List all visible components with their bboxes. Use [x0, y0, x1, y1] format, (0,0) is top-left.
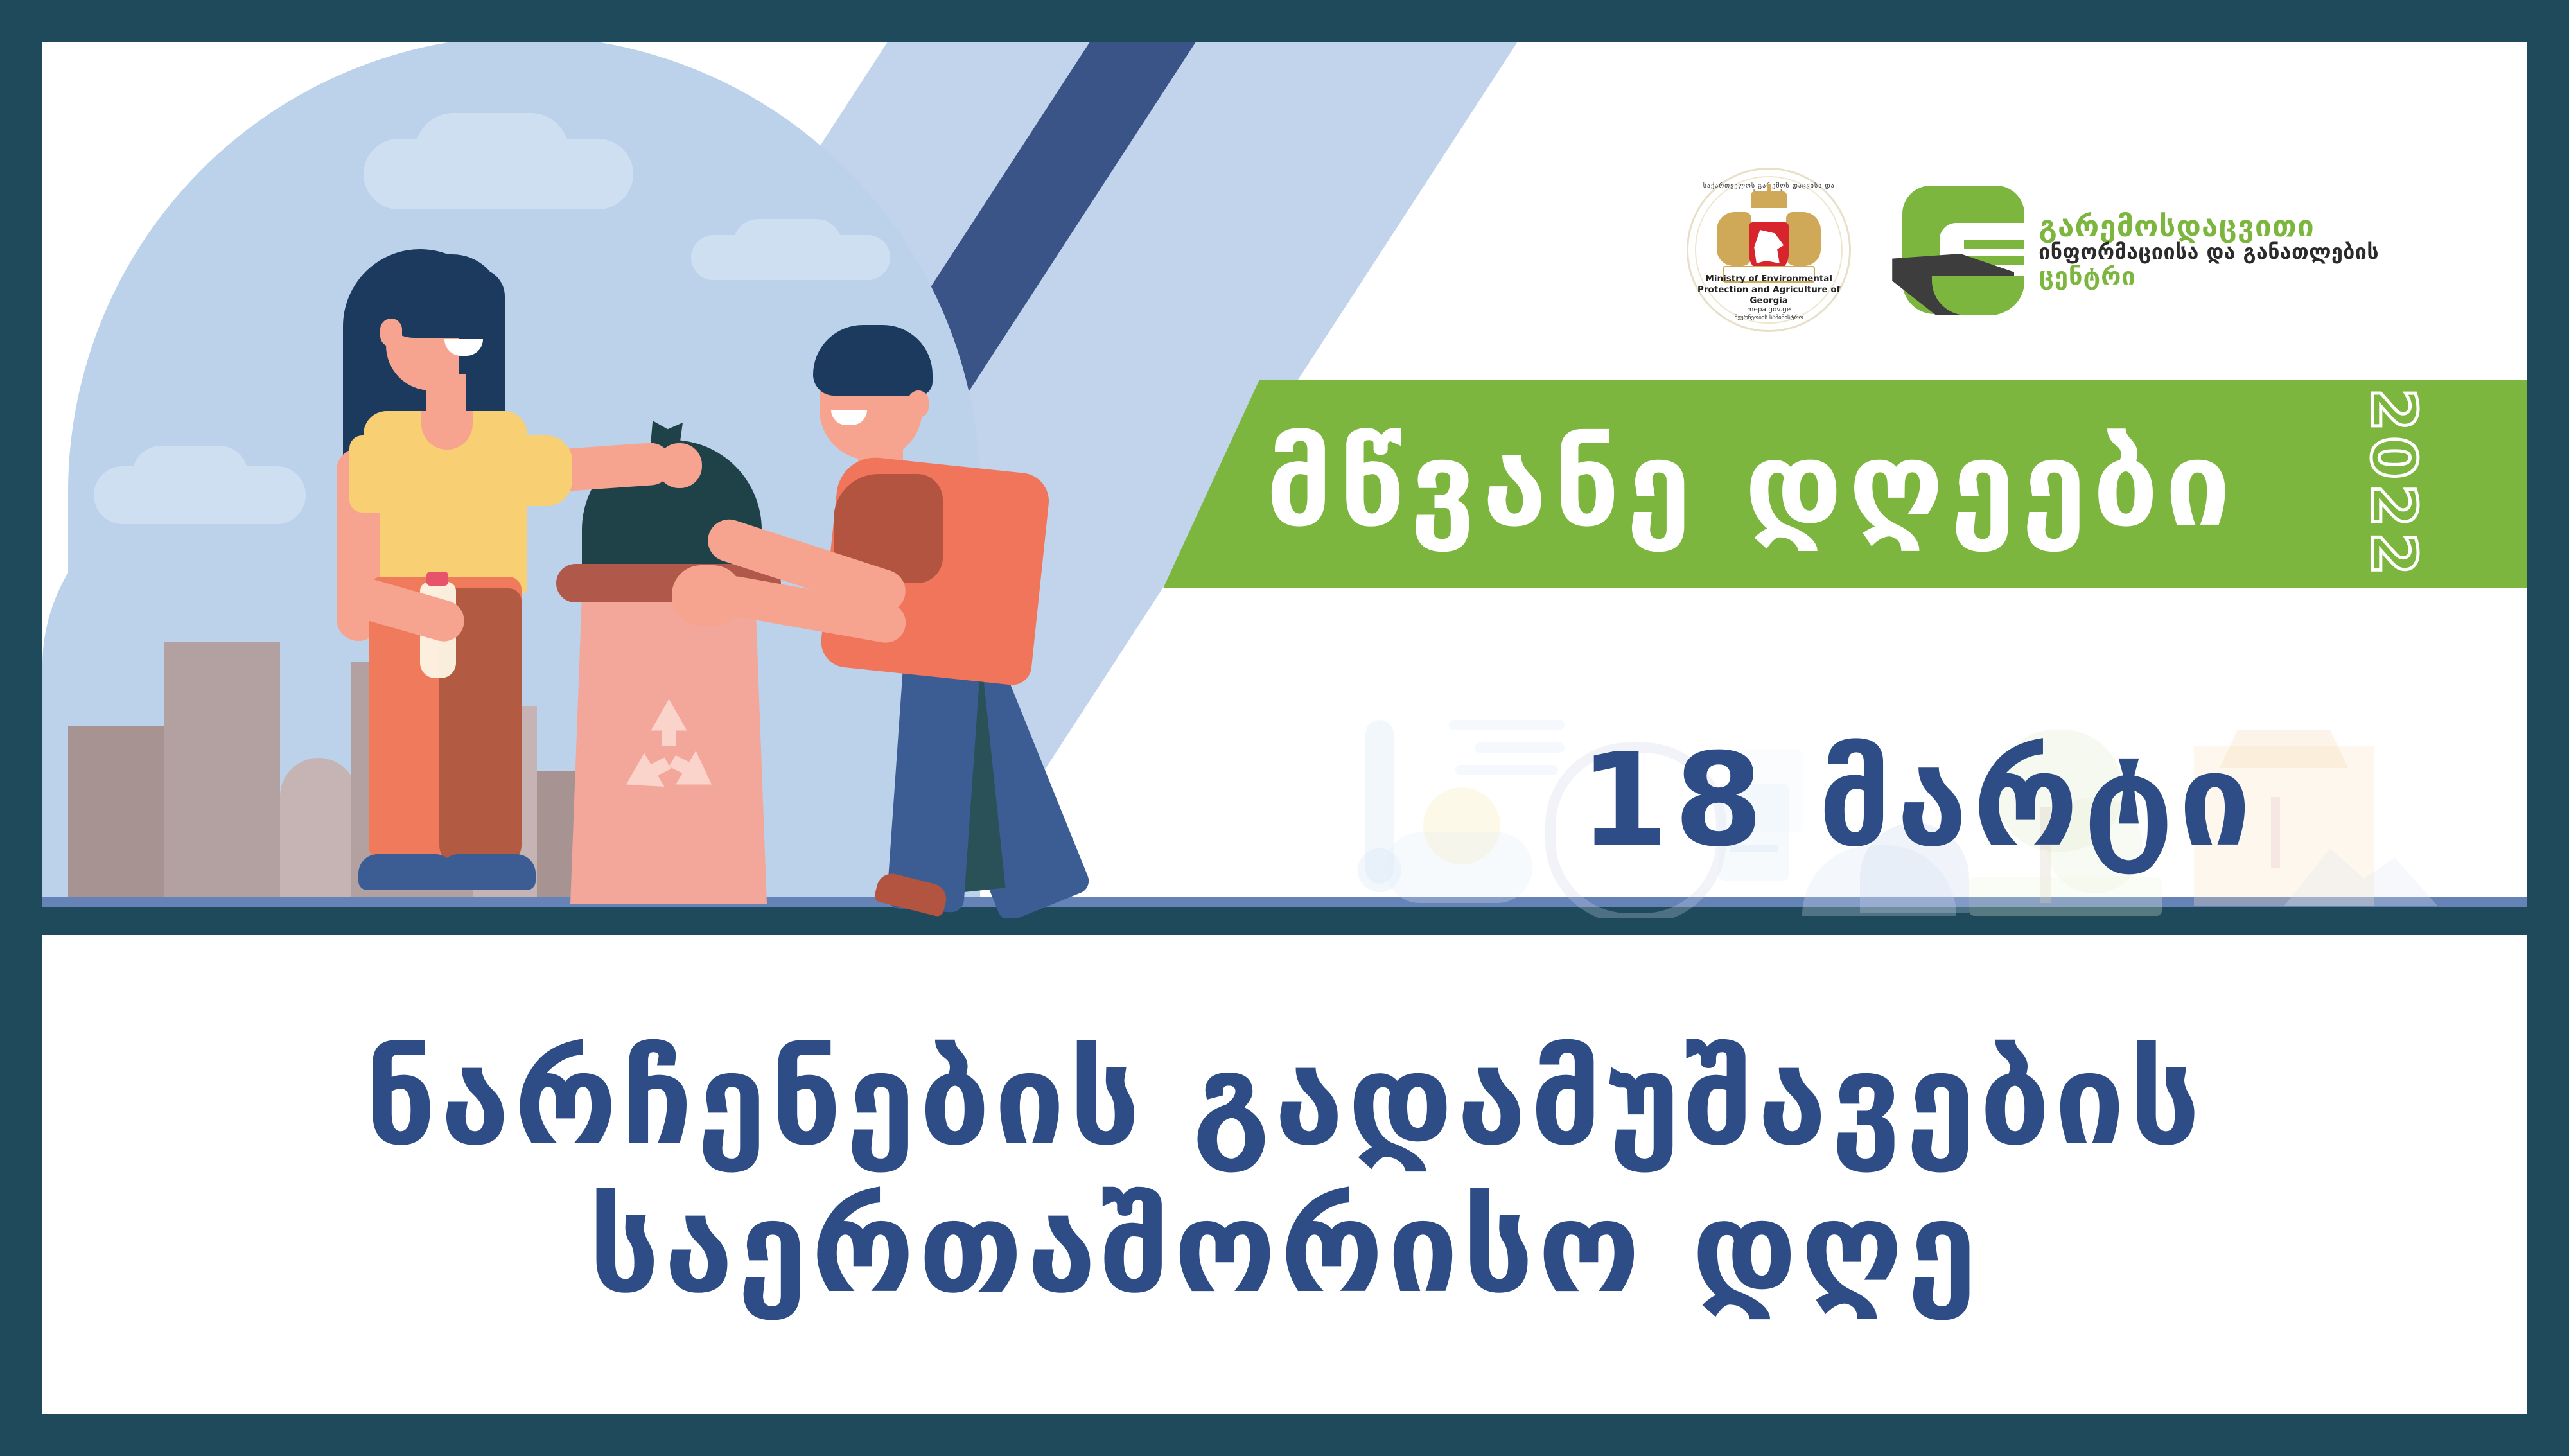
poster-root: მწვანე დღეები 2022 18 მარტი საქართველოს …: [0, 0, 2569, 1456]
georgia-coat-of-arms-icon: საქართველოს გარემოს დაცვისა და სოფლის Mi…: [1687, 168, 1851, 332]
cloud-icon: [415, 113, 569, 190]
emblem-georgian-bottom: მეურნეობის სამინისტრო: [1688, 315, 1849, 321]
eiec-line-1: გარემოსდაცვითი: [2039, 211, 2379, 242]
eiec-bar: [1964, 240, 2024, 249]
poster-inner-canvas: მწვანე დღეები 2022 18 მარტი საქართველოს …: [42, 42, 2527, 1414]
emblem-url: mepa.gov.ge: [1688, 306, 1849, 313]
headline-line-1: ნარჩენების გადამუშავების: [365, 1035, 2204, 1167]
cloud-icon: [132, 446, 248, 504]
event-date: 18 მარტი: [1436, 704, 2399, 897]
banner-title: მწვანე დღეები: [1266, 426, 2237, 543]
man-hair: [813, 325, 933, 396]
logo-group: საქართველოს გარემოს დაცვისა და სოფლის Mi…: [1687, 168, 2379, 332]
cloud-icon: [733, 219, 842, 270]
emblem-english-text: Ministry of Environmental Protection and…: [1688, 274, 1849, 306]
recycle-icon: [613, 692, 725, 805]
woman-shoe-right: [439, 854, 536, 890]
crown-icon: [1751, 191, 1787, 208]
woman-right-sleeve: [505, 435, 572, 506]
man-hand: [672, 565, 742, 626]
woman-left-sleeve: [349, 435, 411, 513]
section-divider: [42, 918, 2527, 935]
lion-icon: [1786, 212, 1821, 266]
eiec-logo-icon: [1902, 186, 2024, 314]
eiec-line-3: ცენტრი: [2039, 263, 2379, 289]
eiec-logo-text: გარემოსდაცვითი ინფორმაციისა და განათლები…: [2039, 211, 2379, 290]
green-banner: მწვანე დღეები 2022: [1163, 380, 2527, 588]
banner-year: 2022: [2357, 388, 2429, 580]
illustration-stage: მწვანე დღეები 2022 18 მარტი საქართველოს …: [42, 42, 2527, 918]
headline-block: ნარჩენების გადამუშავების საერთაშორისო დღ…: [42, 935, 2527, 1414]
bottle-cap-icon: [426, 572, 448, 586]
lion-icon: [1717, 212, 1751, 266]
woman-right-hand: [657, 443, 702, 488]
saint-george-rider-icon: [1754, 230, 1784, 263]
character-man: [723, 313, 1121, 904]
eiec-line-2: ინფორმაციისა და განათლების: [2039, 241, 2379, 263]
headline-line-2: საერთაშორისო დღე: [588, 1182, 1981, 1315]
woman-ear: [380, 319, 402, 347]
eiec-logo: გარემოსდაცვითი ინფორმაციისა და განათლები…: [1902, 186, 2379, 314]
man-ear: [908, 390, 929, 417]
building-icon: [164, 642, 280, 918]
character-woman: [319, 243, 608, 904]
building-icon: [68, 726, 164, 918]
